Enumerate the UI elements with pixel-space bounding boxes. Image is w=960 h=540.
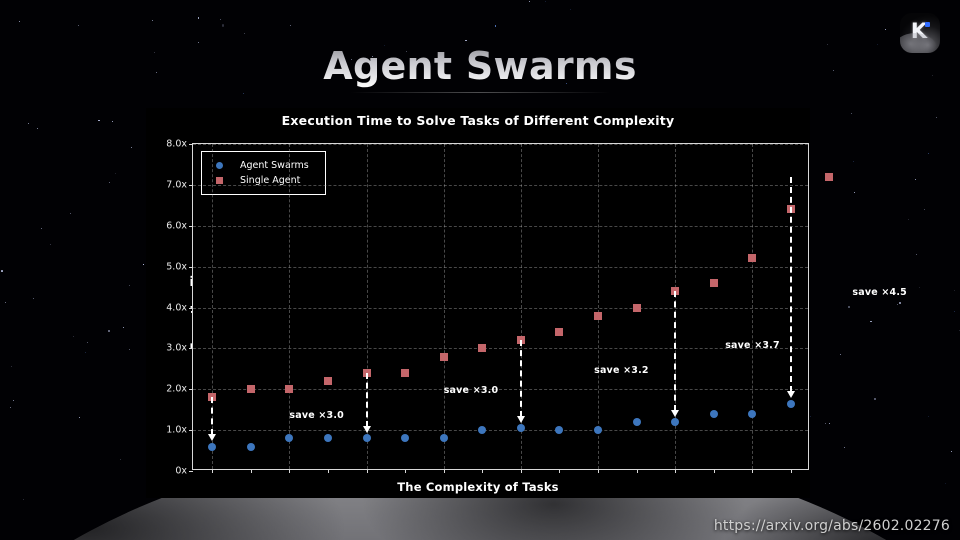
x-tick-mark — [714, 469, 715, 473]
star — [87, 342, 88, 343]
star — [28, 123, 29, 124]
star — [13, 400, 14, 401]
data-point-agent-swarms — [710, 410, 718, 418]
data-point-agent-swarms — [247, 443, 255, 451]
data-point-single-agent — [594, 312, 602, 320]
chart-gridline-horizontal — [193, 185, 808, 186]
y-tick-mark — [189, 471, 193, 472]
star — [108, 330, 110, 332]
star — [954, 290, 955, 291]
star — [112, 121, 113, 122]
data-point-single-agent — [285, 385, 293, 393]
star — [570, 9, 571, 10]
data-point-single-agent — [478, 344, 486, 352]
x-tick-mark — [328, 469, 329, 473]
star — [244, 33, 245, 34]
data-point-agent-swarms — [671, 418, 679, 426]
save-annotation-arrow — [790, 177, 792, 393]
star — [129, 349, 130, 350]
y-tick-label: 1.0x — [166, 425, 187, 436]
star — [899, 302, 901, 304]
chart-gridline-horizontal — [193, 308, 808, 309]
data-point-single-agent — [710, 279, 718, 287]
x-tick-mark — [521, 469, 522, 473]
data-point-agent-swarms — [555, 426, 563, 434]
star — [10, 407, 12, 409]
x-tick-mark — [251, 469, 252, 473]
y-tick-label: 8.0x — [166, 139, 187, 150]
x-tick-mark — [598, 469, 599, 473]
chart-title: Execution Time to Solve Tasks of Differe… — [146, 113, 810, 128]
logo-dot-icon — [925, 22, 930, 27]
save-annotation-arrowhead — [363, 426, 371, 433]
star — [70, 213, 71, 214]
star — [143, 264, 144, 265]
y-tick-mark — [189, 144, 193, 145]
star — [143, 264, 144, 265]
star — [908, 219, 909, 220]
star — [78, 25, 79, 26]
star — [198, 17, 200, 19]
x-tick-mark — [752, 469, 753, 473]
star — [854, 192, 856, 194]
chart-gridline-horizontal — [193, 144, 808, 145]
chart-plot-area: Agent Swarms Single Agent 0x1.0x2.0x3.0x… — [192, 143, 809, 470]
y-tick-mark — [189, 348, 193, 349]
data-point-single-agent — [401, 369, 409, 377]
star — [131, 147, 132, 148]
y-tick-mark — [189, 389, 193, 390]
data-point-agent-swarms — [208, 443, 216, 451]
star — [198, 42, 199, 43]
save-annotation-arrow — [366, 373, 368, 427]
star — [844, 447, 845, 448]
data-point-agent-swarms — [363, 434, 371, 442]
chart-legend: Agent Swarms Single Agent — [201, 151, 326, 195]
data-point-single-agent — [633, 304, 641, 312]
star — [936, 117, 937, 118]
star — [853, 161, 854, 162]
save-annotation-arrowhead — [787, 391, 795, 398]
star — [11, 366, 12, 367]
x-tick-mark — [289, 469, 290, 473]
star — [73, 336, 74, 337]
data-point-agent-swarms — [324, 434, 332, 442]
y-tick-mark — [189, 185, 193, 186]
star — [829, 423, 830, 424]
star — [928, 416, 929, 417]
y-tick-label: 6.0x — [166, 220, 187, 231]
legend-item-agent-swarms: Agent Swarms — [210, 158, 309, 173]
star — [152, 20, 153, 21]
star — [885, 29, 886, 30]
save-annotation-arrowhead — [517, 416, 525, 423]
star — [851, 113, 852, 114]
x-tick-mark — [212, 469, 213, 473]
y-tick-mark — [189, 267, 193, 268]
star — [870, 321, 872, 323]
save-annotation-label: save ×3.2 — [594, 365, 649, 376]
data-point-agent-swarms — [440, 434, 448, 442]
data-point-agent-swarms — [594, 426, 602, 434]
star — [916, 254, 917, 255]
star — [123, 327, 124, 328]
chart-gridline-vertical — [444, 144, 445, 469]
chart-gridline-horizontal — [193, 430, 808, 431]
y-tick-mark — [189, 226, 193, 227]
save-annotation-arrow — [211, 397, 213, 435]
page-title: Agent Swarms — [0, 44, 960, 88]
data-point-agent-swarms — [478, 426, 486, 434]
star — [924, 209, 925, 210]
data-point-single-agent — [748, 254, 756, 262]
x-tick-mark — [637, 469, 638, 473]
x-tick-mark — [405, 469, 406, 473]
data-point-agent-swarms — [517, 424, 525, 432]
star — [79, 417, 80, 418]
save-annotation-label: save ×3.7 — [725, 340, 780, 351]
x-tick-mark — [675, 469, 676, 473]
data-point-single-agent — [555, 328, 563, 336]
star — [120, 459, 121, 460]
save-annotation-label: save ×4.5 — [852, 287, 907, 298]
y-tick-label: 0x — [175, 466, 187, 477]
star — [465, 40, 467, 42]
star — [874, 398, 876, 400]
chart-gridline-vertical — [598, 144, 599, 469]
star — [33, 298, 34, 299]
star — [115, 173, 116, 174]
star — [954, 311, 955, 312]
star — [840, 354, 841, 355]
save-annotation-arrowhead — [208, 434, 216, 441]
data-point-agent-swarms — [787, 400, 795, 408]
star — [290, 25, 291, 26]
star — [529, 1, 530, 2]
x-tick-mark — [367, 469, 368, 473]
star — [50, 244, 51, 245]
data-point-single-agent — [247, 385, 255, 393]
y-tick-label: 3.0x — [166, 343, 187, 354]
data-point-agent-swarms — [285, 434, 293, 442]
save-annotation-label: save ×3.0 — [289, 410, 344, 421]
x-tick-mark — [482, 469, 483, 473]
data-point-single-agent — [825, 173, 833, 181]
title-divider — [350, 92, 610, 93]
star — [919, 287, 920, 288]
x-tick-mark — [791, 469, 792, 473]
star — [220, 19, 221, 20]
source-url[interactable]: https://arxiv.org/abs/2602.02276 — [714, 518, 950, 534]
star — [5, 302, 6, 303]
star — [85, 352, 87, 354]
data-point-single-agent — [324, 377, 332, 385]
star — [129, 285, 130, 286]
x-tick-mark — [444, 469, 445, 473]
star — [825, 423, 826, 424]
save-annotation-arrow — [674, 291, 676, 411]
star — [98, 120, 100, 122]
legend-label: Agent Swarms — [240, 160, 309, 171]
star — [848, 306, 850, 308]
x-tick-mark — [559, 469, 560, 473]
y-tick-label: 4.0x — [166, 302, 187, 313]
y-tick-mark — [189, 308, 193, 309]
y-tick-label: 2.0x — [166, 384, 187, 395]
star — [109, 182, 110, 183]
chart-x-axis-label: The Complexity of Tasks — [146, 480, 810, 494]
star — [928, 153, 929, 154]
chart-gridline-horizontal — [193, 348, 808, 349]
save-annotation-arrow — [520, 340, 522, 417]
y-tick-mark — [189, 430, 193, 431]
star — [951, 451, 952, 452]
star — [495, 25, 497, 27]
star — [1, 270, 3, 272]
chart-gridline-vertical — [752, 144, 753, 469]
data-point-agent-swarms — [633, 418, 641, 426]
save-annotation-arrowhead — [671, 410, 679, 417]
chart-gridline-horizontal — [193, 226, 808, 227]
star — [222, 24, 224, 26]
data-point-agent-swarms — [401, 434, 409, 442]
chart-card: Execution Time to Solve Tasks of Differe… — [146, 108, 810, 498]
star — [897, 304, 898, 305]
save-annotation-label: save ×3.0 — [444, 385, 499, 396]
star — [37, 128, 38, 129]
star — [19, 21, 20, 22]
star — [545, 1, 546, 2]
chart-gridline-horizontal — [193, 267, 808, 268]
y-tick-label: 7.0x — [166, 179, 187, 190]
star — [915, 179, 916, 180]
slide-root: K Agent Swarms Execution Time to Solve T… — [0, 0, 960, 540]
star — [41, 228, 42, 229]
star — [243, 93, 244, 94]
y-tick-label: 5.0x — [166, 261, 187, 272]
data-point-single-agent — [440, 353, 448, 361]
data-point-agent-swarms — [748, 410, 756, 418]
